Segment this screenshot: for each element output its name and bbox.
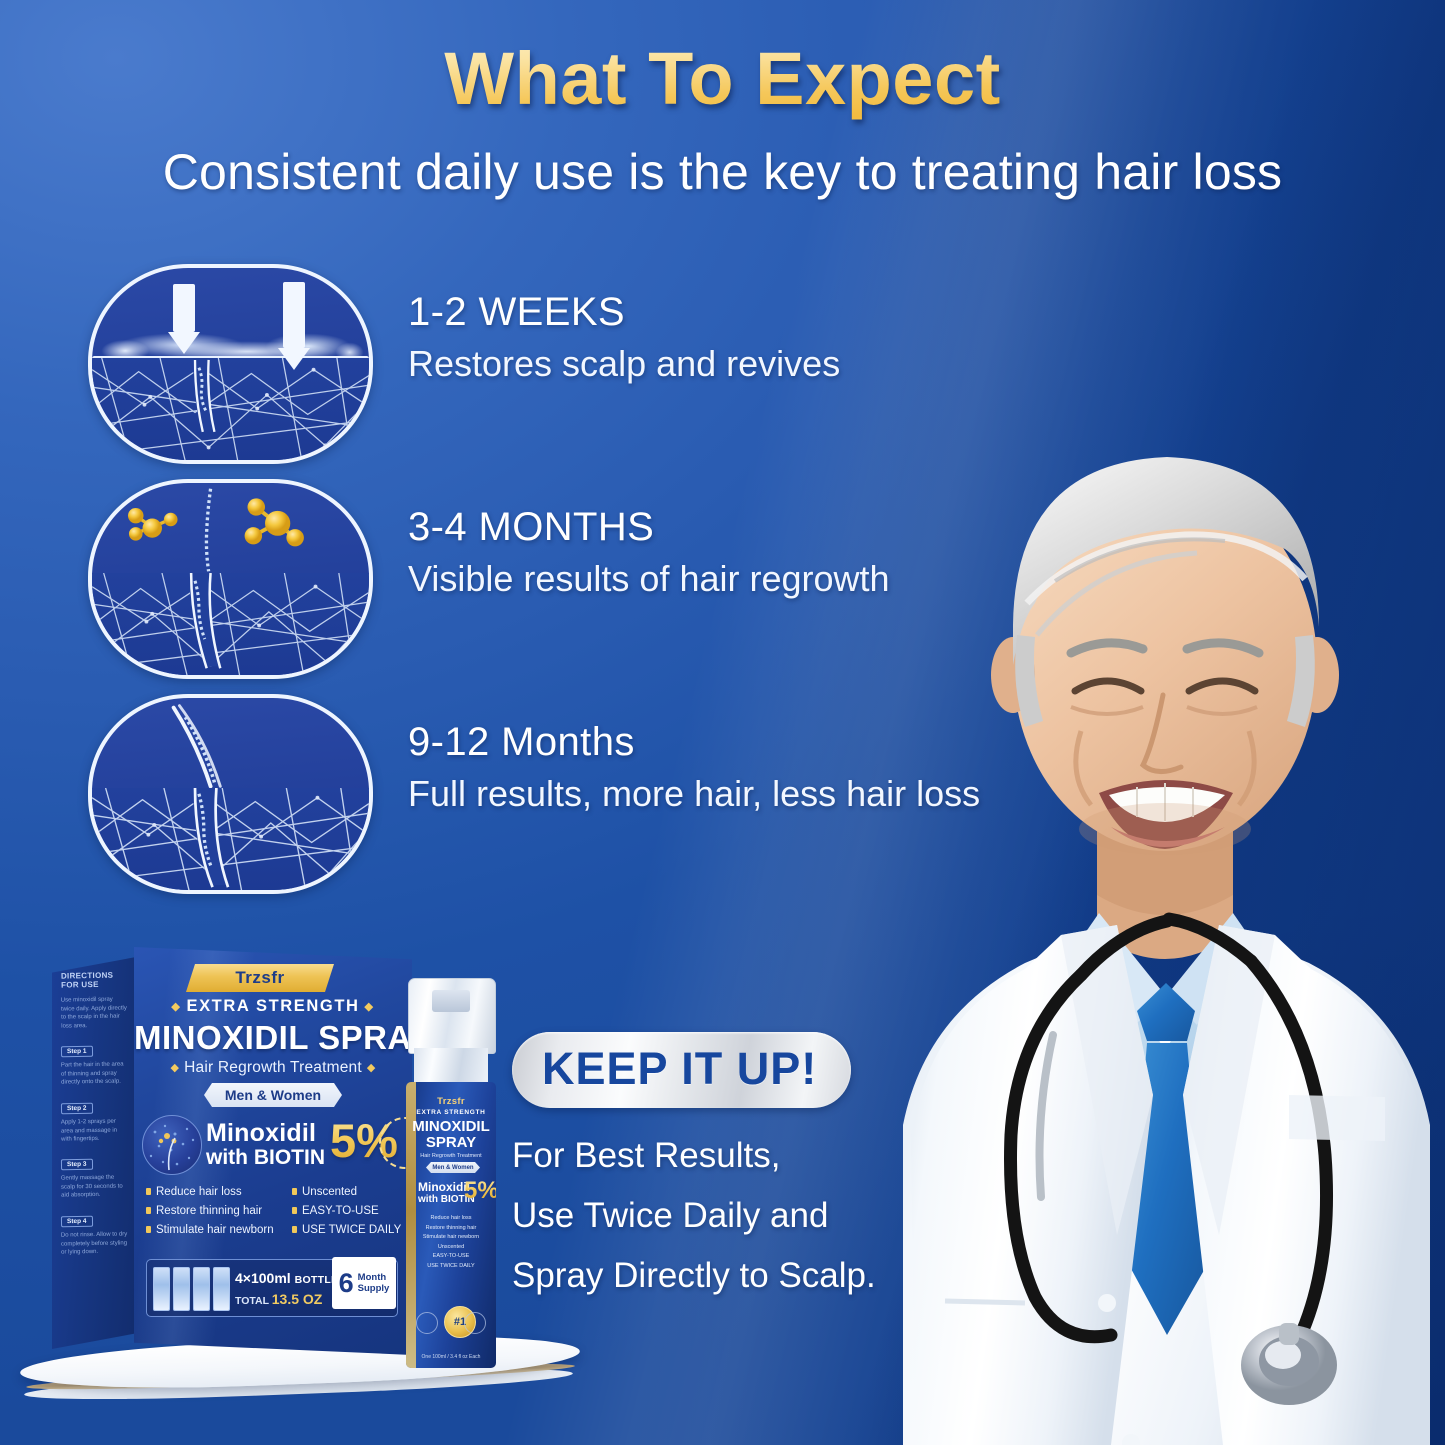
step-text: Do not rinse. Allow to dry completely be…: [61, 1230, 128, 1257]
bullet-icon: [292, 1188, 297, 1195]
timeline-description: Restores scalp and revives: [408, 343, 840, 385]
scalp-full-hair-icon: [88, 694, 373, 894]
bottle-icons: [153, 1267, 230, 1311]
timeline-item: 9-12 Months Full results, more hair, les…: [78, 688, 1058, 903]
page-subtitle: Consistent daily use is the key to treat…: [0, 143, 1445, 201]
feature-item: EASY-TO-USE: [406, 1252, 496, 1262]
step-label: Step 1: [61, 1046, 93, 1058]
timeline-item: 3-4 MONTHS Visible results of hair regro…: [78, 473, 1058, 688]
bottle-product-name: MINOXIDIL SPRAY: [406, 1119, 496, 1151]
supply-word-month: Month: [358, 1272, 390, 1283]
bottle-neck: [414, 1048, 488, 1086]
page-title: What To Expect: [0, 36, 1445, 121]
expectation-timeline: 1-2 WEEKS Restores scalp and revives: [78, 258, 1058, 903]
bullet-icon: [292, 1207, 297, 1214]
step-label: Step 2: [61, 1102, 93, 1114]
directions-heading: DIRECTIONS FOR USE: [61, 970, 128, 989]
product-name: MINOXIDIL SPRAY: [134, 1019, 412, 1057]
feature-item: Stimulate hair newborn: [406, 1233, 496, 1243]
scalp-molecules-icon: [88, 479, 373, 679]
bottle-concentration: 5%: [464, 1177, 496, 1205]
supply-months: 6: [339, 1270, 354, 1297]
directions-intro: Use minoxidil spray twice daily. Apply d…: [61, 995, 129, 1030]
cta-line: Use Twice Daily and: [512, 1196, 942, 1236]
bullet-icon: [146, 1207, 151, 1214]
feature-item: EASY-TO-USE: [292, 1202, 401, 1221]
cta-instructions: For Best Results, Use Twice Daily and Sp…: [512, 1136, 942, 1296]
step-label: Step 3: [61, 1159, 93, 1171]
brand-logo: Trzsfr: [186, 964, 334, 992]
bottle-label: Trzsfr EXTRA STRENGTH MINOXIDIL SPRAY Ha…: [406, 1082, 496, 1368]
step-text: Apply 1-2 sprays per area and massage in…: [61, 1117, 128, 1144]
diamond-icon: ◆: [171, 1000, 181, 1013]
timeline-text: 1-2 WEEKS Restores scalp and revives: [408, 290, 840, 385]
extra-strength-label: ◆EXTRA STRENGTH◆: [134, 997, 412, 1016]
feature-item: USE TWICE DAILY: [406, 1262, 496, 1272]
timeline-description: Visible results of hair regrowth: [408, 558, 890, 600]
timeline-text: 9-12 Months Full results, more hair, les…: [408, 720, 980, 815]
product-box: DIRECTIONS FOR USE Use minoxidil spray t…: [52, 947, 412, 1355]
bottle-strength: EXTRA STRENGTH: [406, 1109, 496, 1116]
bottle-brand: Trzsfr: [406, 1096, 496, 1107]
feature-item: Stimulate hair newborn: [146, 1221, 274, 1240]
product-box-side-panel: DIRECTIONS FOR USE Use minoxidil spray t…: [52, 957, 136, 1349]
step-label: Step 4: [61, 1215, 93, 1227]
timeline-period: 9-12 Months: [408, 720, 980, 765]
absorption-arrow-right: [278, 282, 310, 370]
timeline-item: 1-2 WEEKS Restores scalp and revives: [78, 258, 1058, 473]
bottle-active-ingredient: Minoxidil: [418, 1180, 470, 1194]
product-box-front: Trzsfr ◆EXTRA STRENGTH◆ MINOXIDIL SPRAY …: [134, 947, 412, 1355]
timeline-description: Full results, more hair, less hair loss: [408, 773, 980, 815]
scalp-absorption-icon: [88, 264, 373, 464]
supply-badge: 6 Month Supply: [332, 1257, 396, 1309]
timeline-period: 3-4 MONTHS: [408, 505, 890, 550]
infographic-canvas: What To Expect Consistent daily use is t…: [0, 0, 1445, 1445]
scalp-closeup-graphic: [142, 1115, 202, 1175]
feature-item: Reduce hair loss: [406, 1214, 496, 1224]
bottle-feature-list: Reduce hair loss Restore thinning hair S…: [406, 1214, 496, 1271]
active-ingredient: Minoxidil: [206, 1119, 316, 1148]
feature-item: Restore thinning hair: [146, 1202, 274, 1221]
feature-item: Unscented: [406, 1243, 496, 1253]
timeline-text: 3-4 MONTHS Visible results of hair regro…: [408, 505, 890, 600]
treatment-label: ◆Hair Regrowth Treatment◆: [134, 1059, 412, 1077]
bullet-icon: [146, 1188, 151, 1195]
absorption-arrow-left: [168, 284, 200, 354]
cta-line: Spray Directly to Scalp.: [512, 1256, 942, 1296]
feature-item: USE TWICE DAILY: [292, 1221, 401, 1240]
timeline-period: 1-2 WEEKS: [408, 290, 840, 335]
step-text: Gently massage the scalp for 30 seconds …: [61, 1173, 128, 1200]
product-bottle: Trzsfr EXTRA STRENGTH MINOXIDIL SPRAY Ha…: [398, 978, 504, 1370]
supply-word-supply: Supply: [358, 1283, 390, 1294]
biotin-label: with BIOTIN: [206, 1146, 325, 1170]
bottle-count: 4×100ml BOTTLES: [235, 1270, 346, 1286]
certification-icon-right: [464, 1312, 486, 1334]
bullet-icon: [146, 1226, 151, 1233]
bottle-volume: One 100ml / 3.4 fl oz Each: [406, 1354, 496, 1360]
spray-nozzle: [432, 990, 470, 1012]
diamond-icon: ◆: [365, 1000, 375, 1013]
feature-item: Reduce hair loss: [146, 1183, 274, 1202]
step-text: Part the hair in the area of thinning an…: [61, 1060, 128, 1087]
keep-it-up-badge: KEEP IT UP!: [512, 1032, 851, 1108]
feature-list-left: Reduce hair loss Restore thinning hair S…: [146, 1183, 274, 1240]
feature-item: Unscented: [292, 1183, 401, 1202]
total-volume: TOTAL 13.5 OZ: [235, 1291, 322, 1307]
diamond-icon: ◆: [170, 1061, 179, 1074]
bottle-treatment-line: Hair Regrowth Treatment: [406, 1153, 496, 1159]
certification-icon-left: [416, 1312, 438, 1334]
feature-list-right: Unscented EASY-TO-USE USE TWICE DAILY: [292, 1183, 401, 1240]
cta-line: For Best Results,: [512, 1136, 942, 1176]
feature-item: Restore thinning hair: [406, 1224, 496, 1234]
audience-badge: Men & Women: [204, 1083, 342, 1107]
bottle-audience-badge: Men & Women: [426, 1162, 480, 1173]
bullet-icon: [292, 1226, 297, 1233]
diamond-icon: ◆: [367, 1061, 376, 1074]
cta-block: KEEP IT UP! For Best Results, Use Twice …: [512, 1032, 942, 1316]
